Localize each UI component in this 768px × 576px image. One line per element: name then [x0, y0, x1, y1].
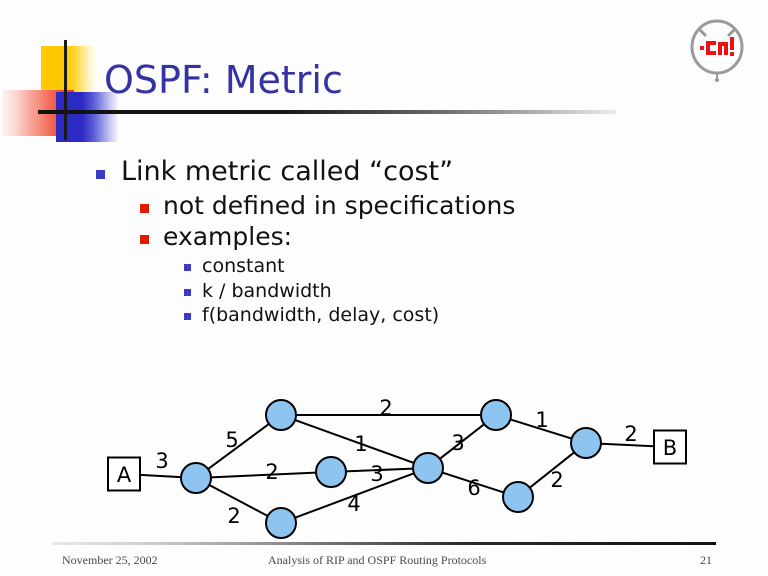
router-node [181, 463, 211, 493]
graph-edge [295, 420, 414, 463]
graph-edge [295, 473, 414, 517]
deco-yellow-square [41, 46, 96, 94]
bullet-square-icon [96, 170, 105, 179]
graph-edges [140, 415, 654, 518]
edge-cost-label: 3 [155, 449, 168, 473]
list-item-level3: k / bandwidth [184, 279, 696, 304]
slide: OSPF: Metric Link metric called “cost” n… [0, 0, 768, 576]
graph-nodes [181, 400, 601, 538]
graph-edge-labels: 3522213436122 [155, 396, 637, 528]
graph-edge [510, 419, 571, 438]
list-item-level2: not defined in specifications [140, 191, 696, 222]
list-item-label: examples: [163, 222, 292, 253]
router-node [266, 400, 296, 430]
graph-edge [442, 473, 503, 493]
bullet-square-icon [140, 204, 149, 213]
edge-cost-label: 4 [347, 492, 360, 516]
list-item-label: constant [202, 254, 285, 279]
footer-rule [52, 542, 716, 545]
router-node [481, 400, 511, 430]
bullet-list: Link metric called “cost” not defined in… [96, 156, 696, 328]
router-node [266, 508, 296, 538]
edge-cost-label: 2 [379, 396, 392, 420]
graph-edge [530, 452, 575, 487]
graph-endpoints: AB [108, 431, 686, 491]
router-node [413, 453, 443, 483]
list-item-level1: Link metric called “cost” [96, 156, 696, 189]
router-node [316, 457, 346, 487]
edge-cost-label: 5 [225, 428, 238, 452]
router-node [571, 428, 601, 458]
list-item-level3: f(bandwidth, delay, cost) [184, 303, 696, 328]
endpoint-box [654, 431, 686, 464]
edge-cost-label: 3 [451, 431, 464, 455]
graph-edge [211, 473, 316, 478]
edge-cost-label: 6 [467, 476, 480, 500]
deco-vertical-line [64, 40, 67, 140]
bullet-square-icon [140, 235, 149, 244]
cnl-logo [686, 18, 748, 82]
graph-edge [208, 424, 269, 469]
edge-cost-label: 2 [624, 422, 637, 446]
endpoint-box [108, 458, 140, 491]
edge-cost-label: 1 [535, 408, 548, 432]
graph-edge [209, 485, 267, 516]
footer-page-number: 21 [700, 553, 712, 568]
bullet-square-icon [184, 264, 191, 271]
footer-date: November 25, 2002 [62, 553, 158, 568]
edge-cost-label: 2 [227, 504, 240, 528]
endpoint-label: B [663, 436, 677, 460]
list-item-label: f(bandwidth, delay, cost) [202, 303, 439, 328]
list-item-label: Link metric called “cost” [121, 156, 453, 189]
title-underline-rule [38, 110, 616, 114]
endpoint-label: A [117, 463, 132, 487]
list-item-label: not defined in specifications [163, 191, 515, 222]
footer-title: Analysis of RIP and OSPF Routing Protoco… [268, 553, 486, 568]
graph-edge [346, 469, 413, 472]
edge-cost-label: 2 [550, 468, 563, 492]
router-node [503, 482, 533, 512]
list-item-level2: examples: [140, 222, 696, 253]
bullet-square-icon [184, 289, 191, 296]
footer: November 25, 2002 Analysis of RIP and OS… [0, 550, 768, 572]
page-title: OSPF: Metric [104, 58, 343, 102]
edge-cost-label: 2 [265, 460, 278, 484]
graph-edge [140, 475, 181, 477]
list-item-level3: constant [184, 254, 696, 279]
bullet-square-icon [184, 313, 191, 320]
edge-cost-label: 1 [354, 432, 367, 456]
graph-edge [440, 424, 484, 459]
edge-cost-label: 3 [370, 462, 383, 486]
graph-edge [601, 444, 654, 447]
list-item-label: k / bandwidth [202, 279, 332, 304]
